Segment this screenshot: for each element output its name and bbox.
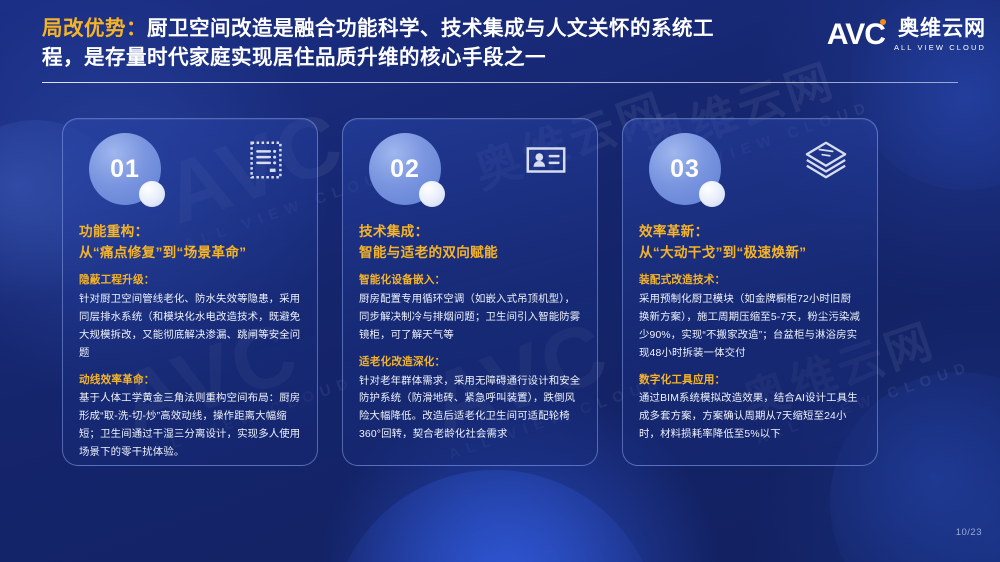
accent-dot-icon (699, 181, 725, 207)
card-number-label: 03 (670, 155, 700, 184)
card-title-line-1: 功能重构： (79, 221, 301, 242)
avc-logo: AVC 奥维云网 ALL VIEW CLOUD (827, 18, 986, 52)
section-heading: 适老化改造深化： (359, 355, 581, 371)
layers-icon (803, 137, 849, 183)
card-section: 智能化设备嵌入： 厨房配置专用循环空调（如嵌入式吊顶机型），同步解决制冷与排烟问… (359, 273, 581, 345)
card-title-line-1: 技术集成： (359, 221, 581, 242)
section-body: 采用预制化厨卫模块（如金牌橱柜72小时旧厨换新方案），施工周期压缩至5-7天，粉… (639, 291, 861, 363)
card-header: 01 (79, 119, 301, 215)
card-title: 功能重构： 从“痛点修复”到“场景革命” (79, 221, 301, 263)
card-title-line-2: 从“痛点修复”到“场景革命” (79, 242, 301, 263)
card-title-line-2: 从“大动干戈”到“极速焕新” (639, 242, 861, 263)
card-section: 装配式改造技术： 采用预制化厨卫模块（如金牌橱柜72小时旧厨换新方案），施工周期… (639, 273, 861, 362)
accent-dot-icon (139, 181, 165, 207)
logo-mark: AVC (827, 20, 885, 50)
page-title: 局改优势：厨卫空间改造是融合功能科学、技术集成与人文关怀的系统工程，是存量时代家… (42, 14, 742, 72)
section-body: 针对厨卫空间管线老化、防水失效等隐患，采用同层排水系统（和模块化水电改造技术，既… (79, 291, 301, 363)
card-title-line-1: 效率革新： (639, 221, 861, 242)
section-body: 针对老年群体需求，采用无障碍通行设计和安全防护系统（防滑地砖、紧急呼叫装置），跌… (359, 373, 581, 445)
card-section: 动线效率革命： 基于人体工学黄金三角法则重构空间布局：厨房形成“取-洗-切-炒”… (79, 373, 301, 462)
section-heading: 智能化设备嵌入： (359, 273, 581, 289)
logo-cn-text: 奥维云网 (898, 18, 986, 39)
feature-card-02[interactable]: 02 技术集成： 智能与适老的双向赋能 智能化设备 (342, 118, 598, 466)
section-body: 基于人体工学黄金三角法则重构空间布局：厨房形成“取-洗-切-炒”高效动线，操作距… (79, 390, 301, 462)
feature-card-03[interactable]: 03 效率革新： 从“大动干戈”到“极速焕新” (622, 118, 878, 466)
section-heading: 动线效率革命： (79, 373, 301, 389)
id-card-icon (523, 137, 569, 183)
card-section: 数字化工具应用： 通过BIM系统模拟改造效果，结合AI设计工具生成多套方案，方案… (639, 373, 861, 445)
section-body: 通过BIM系统模拟改造效果，结合AI设计工具生成多套方案，方案确认周期从7天缩短… (639, 390, 861, 444)
page-number: 10/23 (956, 527, 982, 538)
cards-container: 01 功能重构： 从“痛点修复”到“场景革 (62, 118, 878, 466)
slide-canvas: 奥维云网 ALL VIEW CLOUD AVC ALL VIEW CLOUD 奥… (0, 0, 1000, 562)
section-body: 厨房配置专用循环空调（如嵌入式吊顶机型），同步解决制冷与排烟问题；卫生间引入智能… (359, 291, 581, 345)
receipt-icon (243, 137, 289, 183)
feature-card-01[interactable]: 01 功能重构： 从“痛点修复”到“场景革 (62, 118, 318, 466)
section-heading: 隐蔽工程升级： (79, 273, 301, 289)
section-heading: 装配式改造技术： (639, 273, 861, 289)
card-section: 隐蔽工程升级： 针对厨卫空间管线老化、防水失效等隐患，采用同层排水系统（和模块化… (79, 273, 301, 362)
section-heading: 数字化工具应用： (639, 373, 861, 389)
decorative-blob (330, 470, 660, 562)
card-number-badge: 01 (89, 133, 161, 205)
header-divider (42, 82, 958, 83)
card-section: 适老化改造深化： 针对老年群体需求，采用无障碍通行设计和安全防护系统（防滑地砖、… (359, 355, 581, 444)
logo-mark-text: AVC (827, 20, 885, 50)
accent-dot-icon (419, 181, 445, 207)
logo-text-block: 奥维云网 ALL VIEW CLOUD (894, 18, 986, 52)
card-number-label: 02 (390, 155, 420, 184)
logo-dot-icon (880, 19, 886, 25)
card-title: 效率革新： 从“大动干戈”到“极速焕新” (639, 221, 861, 263)
card-title: 技术集成： 智能与适老的双向赋能 (359, 221, 581, 263)
card-header: 02 (359, 119, 581, 215)
card-number-label: 01 (110, 155, 140, 184)
logo-sub-text: ALL VIEW CLOUD (894, 43, 986, 52)
card-number-badge: 03 (649, 133, 721, 205)
page-title-highlight: 局改优势： (42, 17, 147, 40)
card-number-badge: 02 (369, 133, 441, 205)
card-header: 03 (639, 119, 861, 215)
card-title-line-2: 智能与适老的双向赋能 (359, 242, 581, 263)
